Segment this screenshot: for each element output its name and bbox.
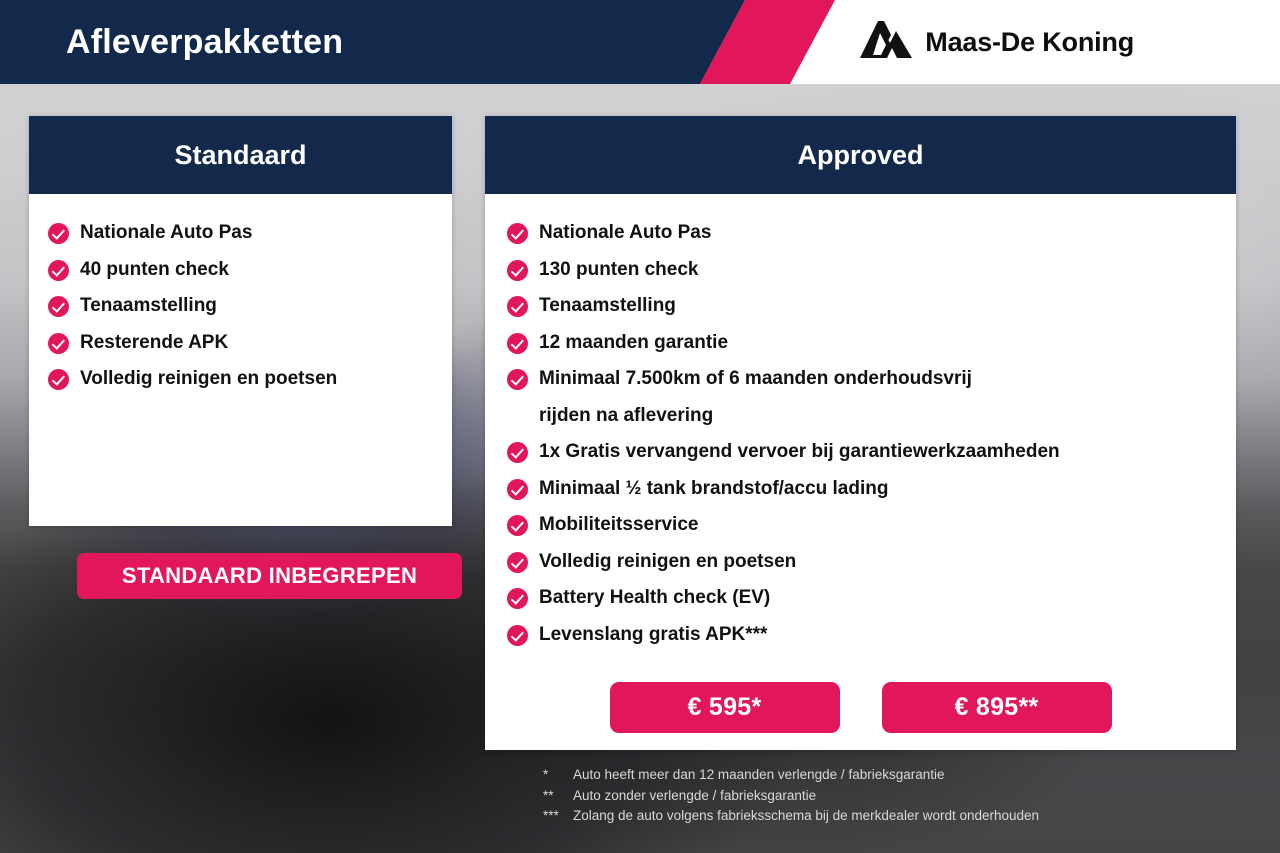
footnote-marker: ** [543, 786, 573, 807]
feature-label: Minimaal ½ tank brandstof/accu lading [539, 471, 888, 508]
check-circle-icon [48, 333, 69, 354]
feature-list-standaard: Nationale Auto Pas 40 punten check Tenaa… [48, 215, 452, 398]
check-circle-icon [507, 260, 528, 281]
check-circle-icon [507, 369, 528, 390]
feature-label-multiline: Minimaal 7.500km of 6 maanden onderhouds… [539, 361, 972, 434]
list-item: 130 punten check [507, 252, 1236, 289]
check-circle-icon [507, 442, 528, 463]
feature-label: Nationale Auto Pas [539, 215, 711, 252]
list-item: 1x Gratis vervangend vervoer bij garanti… [507, 434, 1236, 471]
check-circle-icon [48, 369, 69, 390]
list-item: Volledig reinigen en poetsen [48, 361, 452, 398]
footnote-double-asterisk: ** Auto zonder verlengde / fabrieksgaran… [543, 786, 1039, 807]
footnote-text: Auto zonder verlengde / fabrieksgarantie [573, 786, 816, 807]
card-body-approved: Nationale Auto Pas 130 punten check Tena… [485, 215, 1236, 653]
promo-poster: Afleverpakketten Maas-De Koning Standaar… [0, 0, 1280, 853]
list-item: Minimaal ½ tank brandstof/accu lading [507, 471, 1236, 508]
feature-label: Tenaamstelling [539, 288, 676, 325]
list-item: Mobiliteitsservice [507, 507, 1236, 544]
list-item: Resterende APK [48, 325, 452, 362]
check-circle-icon [48, 296, 69, 317]
list-item: Minimaal 7.500km of 6 maanden onderhouds… [507, 361, 1236, 434]
check-circle-icon [507, 625, 528, 646]
check-circle-icon [507, 333, 528, 354]
feature-label: Volledig reinigen en poetsen [80, 361, 337, 398]
standaard-inbegrepen-button[interactable]: STANDAARD INBEGREPEN [77, 553, 462, 599]
feature-label: Battery Health check (EV) [539, 580, 770, 617]
page-title: Afleverpakketten [66, 0, 343, 84]
feature-label: 12 maanden garantie [539, 325, 728, 362]
list-item: Nationale Auto Pas [507, 215, 1236, 252]
brand-name: Maas-De Koning [925, 27, 1134, 58]
check-circle-icon [507, 588, 528, 609]
feature-list-approved: Nationale Auto Pas 130 punten check Tena… [507, 215, 1236, 653]
price-button-895[interactable]: € 895** [882, 682, 1112, 733]
check-circle-icon [507, 479, 528, 500]
list-item: 40 punten check [48, 252, 452, 289]
list-item: Levenslang gratis APK*** [507, 617, 1236, 654]
feature-label-line1: Minimaal 7.500km of 6 maanden onderhouds… [539, 368, 972, 389]
feature-label: 40 punten check [80, 252, 229, 289]
maas-de-koning-m-mark-icon [860, 21, 912, 64]
list-item: Tenaamstelling [507, 288, 1236, 325]
check-circle-icon [507, 296, 528, 317]
list-item: Battery Health check (EV) [507, 580, 1236, 617]
footnote-triple-asterisk: *** Zolang de auto volgens fabrieksschem… [543, 806, 1039, 827]
check-circle-icon [48, 260, 69, 281]
feature-label: 1x Gratis vervangend vervoer bij garanti… [539, 434, 1060, 471]
check-circle-icon [507, 552, 528, 573]
list-item: Nationale Auto Pas [48, 215, 452, 252]
feature-label: Tenaamstelling [80, 288, 217, 325]
footnote-text: Zolang de auto volgens fabrieksschema bi… [573, 806, 1039, 827]
feature-label: Volledig reinigen en poetsen [539, 544, 796, 581]
card-body-standaard: Nationale Auto Pas 40 punten check Tenaa… [29, 215, 452, 398]
header-bar: Afleverpakketten Maas-De Koning [0, 0, 1280, 84]
price-button-595[interactable]: € 595* [610, 682, 840, 733]
feature-label: Resterende APK [80, 325, 228, 362]
feature-label-line2: rijden na aflevering [539, 398, 972, 435]
check-circle-icon [507, 515, 528, 536]
footnotes: * Auto heeft meer dan 12 maanden verleng… [543, 765, 1039, 827]
card-title-approved: Approved [485, 116, 1236, 194]
package-card-standaard: Standaard Nationale Auto Pas 40 punten c… [29, 116, 452, 526]
package-card-approved: Approved Nationale Auto Pas 130 punten c… [485, 116, 1236, 750]
feature-label: Mobiliteitsservice [539, 507, 698, 544]
footnote-text: Auto heeft meer dan 12 maanden verlengde… [573, 765, 945, 786]
feature-label: 130 punten check [539, 252, 698, 289]
footnote-single-asterisk: * Auto heeft meer dan 12 maanden verleng… [543, 765, 1039, 786]
check-circle-icon [507, 223, 528, 244]
brand-logo: Maas-De Koning [860, 0, 1134, 84]
list-item: Tenaamstelling [48, 288, 452, 325]
price-button-row: € 595* € 895** [485, 682, 1236, 733]
card-title-standaard: Standaard [29, 116, 452, 194]
footnote-marker: * [543, 765, 573, 786]
list-item: 12 maanden garantie [507, 325, 1236, 362]
check-circle-icon [48, 223, 69, 244]
feature-label: Levenslang gratis APK*** [539, 617, 767, 654]
footnote-marker: *** [543, 806, 573, 827]
feature-label: Nationale Auto Pas [80, 215, 252, 252]
list-item: Volledig reinigen en poetsen [507, 544, 1236, 581]
